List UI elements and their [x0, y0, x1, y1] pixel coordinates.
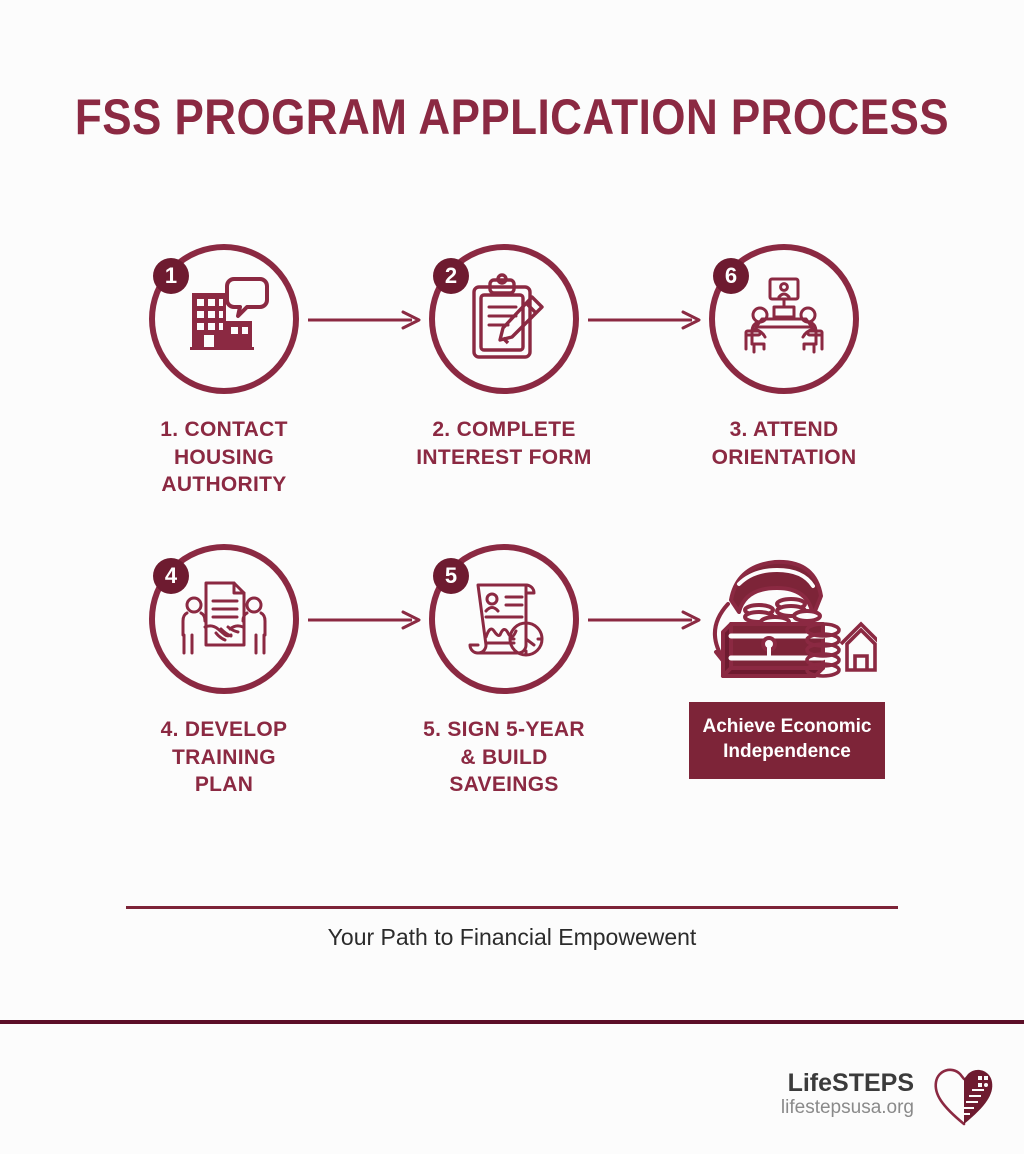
- step-5[interactable]: 5: [404, 544, 604, 799]
- step-4[interactable]: 4: [124, 544, 324, 799]
- outcome-block: Achieve Economic Independence: [672, 544, 902, 779]
- orientation-meeting-icon: [736, 271, 832, 367]
- step-1-badge: 1: [153, 258, 189, 294]
- brand-name: LifeSTEPS: [781, 1069, 914, 1097]
- infographic-poster: FSS PROGRAM APPLICATION PROCESS 1: [0, 0, 1024, 1154]
- clipboard-pencil-icon: [456, 271, 552, 367]
- step-3-circle: 6: [709, 244, 859, 394]
- process-row-bottom: 4: [112, 544, 912, 844]
- page-title: FSS PROGRAM APPLICATION PROCESS: [61, 88, 962, 146]
- process-row-top: 1: [112, 244, 912, 544]
- step-3-label: 3. ATTEND ORIENTATION: [684, 416, 884, 471]
- step-1[interactable]: 1: [124, 244, 324, 499]
- step-3-badge: 6: [713, 258, 749, 294]
- outcome-label: Achieve Economic Independence: [689, 702, 885, 779]
- heart-steps-logo-icon: [928, 1058, 1000, 1130]
- brand-text: LifeSTEPS lifestepsusa.org: [781, 1069, 914, 1120]
- step-2-label: 2. COMPLETE INTEREST FORM: [404, 416, 604, 471]
- tagline: Your Path to Financial Empowewent: [0, 924, 1024, 951]
- process-flow: 1: [112, 244, 912, 844]
- step-5-badge: 5: [433, 558, 469, 594]
- brand-block[interactable]: LifeSTEPS lifestepsusa.org: [781, 1058, 1000, 1130]
- step-5-circle: 5: [429, 544, 579, 694]
- step-5-label: 5. SIGN 5-YEAR & BUILD SAVEINGS: [404, 716, 604, 799]
- footer-divider: [0, 1020, 1024, 1024]
- treasure-chest-coins-house-icon: [697, 544, 877, 694]
- step-2[interactable]: 2: [404, 244, 604, 471]
- step-4-badge: 4: [153, 558, 189, 594]
- step-1-label: 1. CONTACT HOUSING AUTHORITY: [124, 416, 324, 499]
- step-4-label: 4. DEVELOP TRAINING PLAN: [124, 716, 324, 799]
- step-3[interactable]: 6: [684, 244, 884, 471]
- building-speech-bubble-icon: [176, 271, 272, 367]
- step-1-circle: 1: [149, 244, 299, 394]
- step-2-circle: 2: [429, 244, 579, 394]
- step-4-circle: 4: [149, 544, 299, 694]
- signed-contract-clock-icon: [456, 571, 552, 667]
- divider-rule: [126, 906, 898, 909]
- step-2-badge: 2: [433, 258, 469, 294]
- handshake-document-icon: [176, 571, 272, 667]
- brand-url: lifestepsusa.org: [781, 1097, 914, 1120]
